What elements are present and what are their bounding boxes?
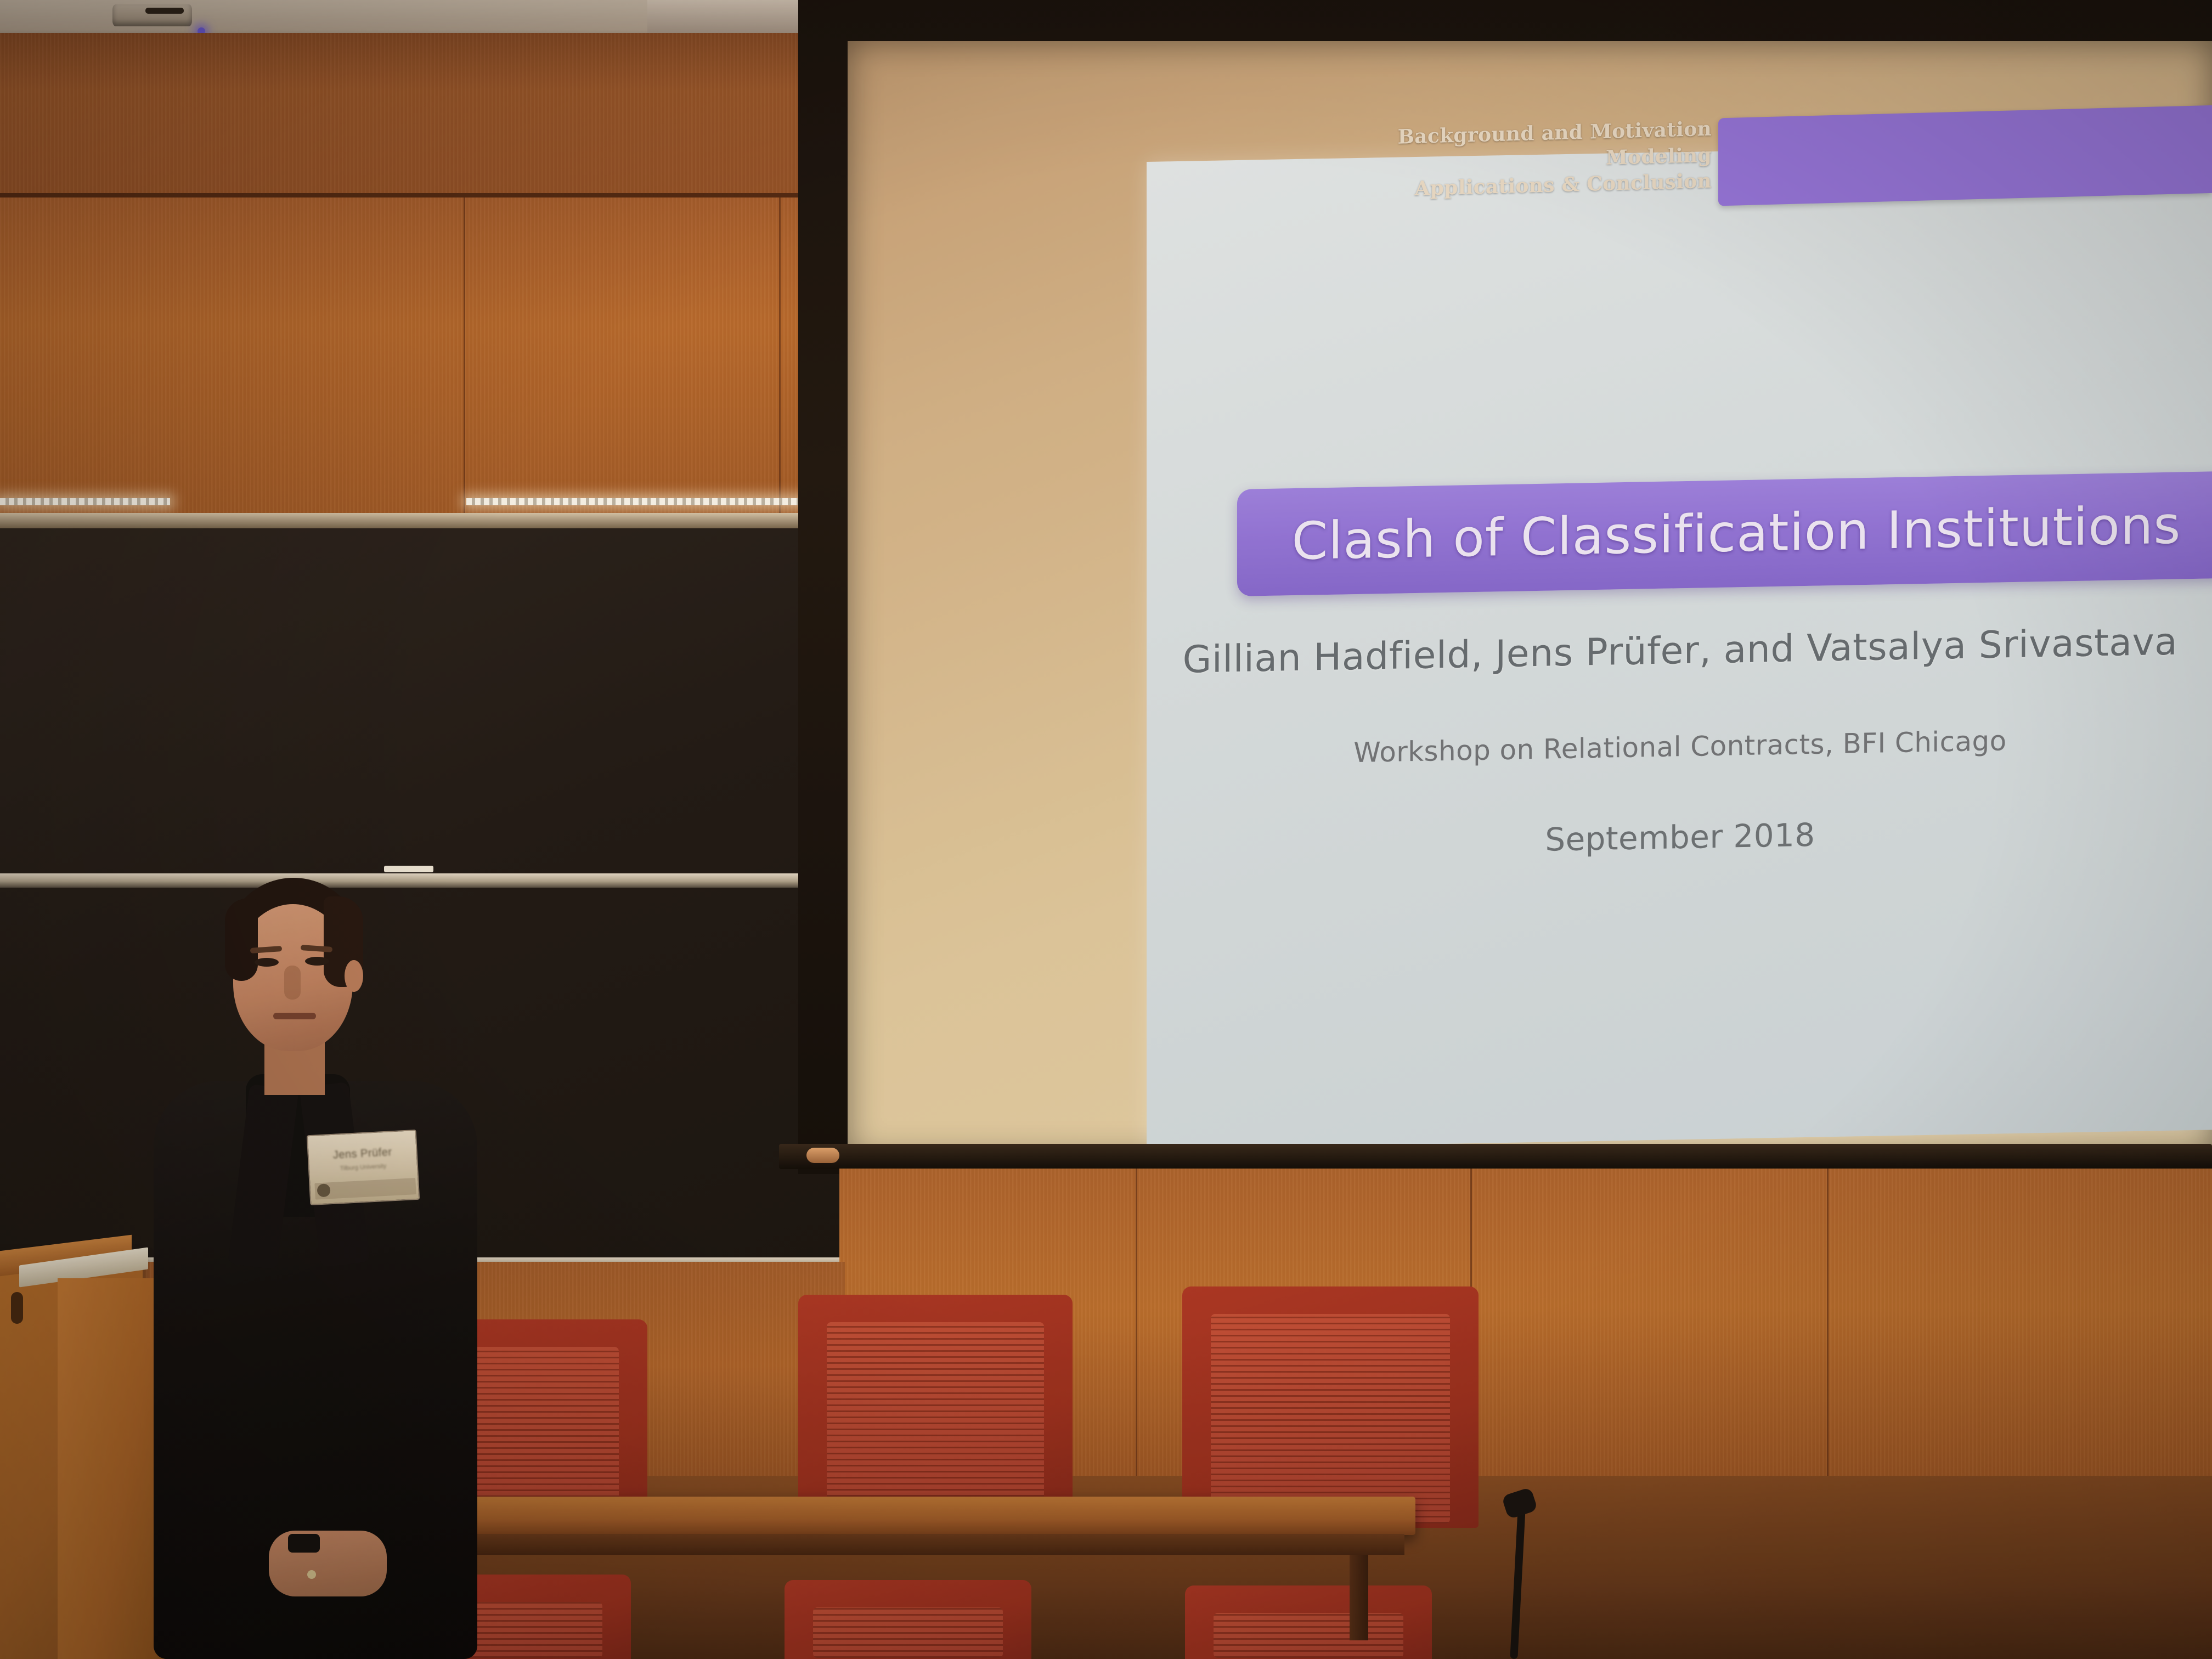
presenter-name-badge: Jens Prüfer Tilburg University [307,1130,420,1205]
presenter-eye-right [305,957,329,966]
chair-seat-center [785,1580,1031,1659]
presenter-ring [307,1570,316,1579]
chair-seat-mesh [813,1607,1003,1658]
led-strip-light [466,498,817,505]
wood-grain-texture [0,33,834,198]
led-strip-light [0,498,170,505]
wood-panel-seam [779,198,781,516]
slide-title-banner: Clash of Classification Institutions [1237,471,2212,596]
slide-nav-sections: Background and Motivation Modeling Appli… [1350,114,1712,225]
presenter-mouth [273,1013,316,1019]
screen-bottom-bar [779,1144,2212,1169]
smoke-detector-icon [112,4,192,26]
presenter-hair-left [225,899,258,981]
slide-venue: Workshop on Relational Contracts, BFI Ch… [1147,721,2212,772]
presenter-ear [345,960,363,992]
chalk-piece [384,866,433,872]
wood-panel-seam [1136,1169,1137,1476]
presentation-clicker[interactable] [288,1534,320,1553]
presenter: Jens Prüfer Tilburg University [143,878,516,1659]
chair-seat-mesh [1214,1613,1403,1658]
slide-nav-accent-block [1718,105,2212,206]
projected-slide: Clash of Classification Institutions Gil… [1147,142,2212,1149]
slide-date: September 2018 [1147,809,2212,866]
smoke-detector-vent [145,8,184,14]
chair-mesh [827,1322,1044,1521]
lectern-knob [11,1292,23,1324]
presenter-hands [269,1531,387,1596]
chair-center[interactable] [798,1295,1073,1525]
wood-shelf-lip [0,513,839,528]
wood-panel-seam [464,198,465,516]
chair-seat-right [1185,1585,1432,1659]
wood-panel-wall [0,198,834,516]
badge-name-text: Jens Prüfer [308,1145,416,1163]
badge-subtitle-text: Tilburg University [309,1161,417,1173]
chair-right[interactable] [1182,1286,1479,1528]
wood-panel-seam [1827,1169,1829,1476]
chair-mesh [1211,1314,1450,1523]
lecture-hall-photo: Clash of Classification Institutions Gil… [0,0,2212,1659]
screen-pull-knob[interactable] [806,1148,839,1163]
presenter-nose [284,966,301,1000]
slide-authors: Gillian Hadfield, Jens Prüfer, and Vatsa… [1147,619,2212,682]
wood-grain-texture [0,198,834,516]
wood-header-band [0,33,834,198]
slide-title: Clash of Classification Institutions [1292,495,2181,572]
presenter-eye-left [255,958,279,967]
